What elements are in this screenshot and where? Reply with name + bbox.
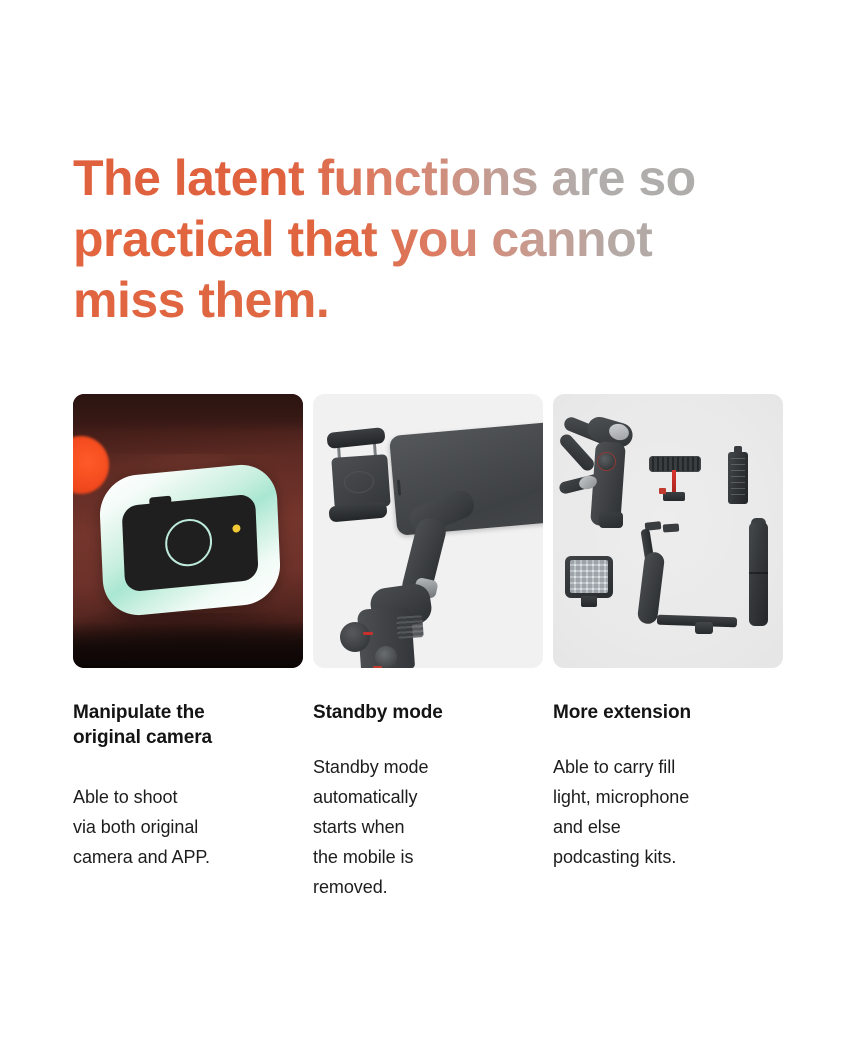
phone-screen-bottom-shadow xyxy=(73,622,303,668)
headline-line-3: miss them. xyxy=(73,270,793,331)
accessory-kit-illustration xyxy=(553,394,783,668)
kit-bracket-shoe-right xyxy=(663,523,680,532)
kit-extension-rod xyxy=(749,522,768,626)
kit-bracket-mount-screw xyxy=(695,622,713,634)
feature-image-accessory-kit xyxy=(553,394,783,668)
kit-gimbal-dial xyxy=(597,452,616,471)
gimbal-illustration xyxy=(313,394,543,668)
feature-body-2: Standby mode automatically starts when t… xyxy=(313,752,543,902)
camera-icon-glyph xyxy=(122,494,259,593)
feature-image-row xyxy=(73,394,783,668)
feature-body-1: Able to shoot via both original camera a… xyxy=(73,782,303,872)
handle-grip-texture xyxy=(396,615,423,639)
kit-microphone-red-accent xyxy=(659,488,666,494)
headline-line-2: practical that you cannot xyxy=(73,209,793,270)
feature-image-camera-app xyxy=(73,394,303,668)
phone-side-button xyxy=(397,479,401,495)
handle-joystick xyxy=(375,646,397,668)
feature-caption-3: More extension Able to carry fill light,… xyxy=(553,700,783,902)
headline-line-1: The latent functions are so xyxy=(73,148,793,209)
feature-image-gimbal-standby xyxy=(313,394,543,668)
record-button-indicator xyxy=(373,666,382,668)
kit-led-light-mount xyxy=(581,596,597,607)
camera-viewfinder-bump-icon xyxy=(149,496,171,505)
feature-body-3: Able to carry fill light, microphone and… xyxy=(553,752,783,872)
product-feature-page: The latent functions are so practical th… xyxy=(0,0,856,1044)
phone-screen-top-band xyxy=(73,394,303,432)
camera-app-icon xyxy=(98,461,281,618)
kit-extension-rod-seam xyxy=(749,572,768,574)
page-headline: The latent functions are so practical th… xyxy=(73,148,793,331)
camera-lens-icon xyxy=(164,517,213,569)
feature-caption-1: Manipulate the original camera Able to s… xyxy=(73,700,303,902)
feature-title-3: More extension xyxy=(553,700,783,725)
kit-folding-tripod xyxy=(728,452,748,504)
kit-led-fill-light xyxy=(565,556,613,598)
feature-caption-row: Manipulate the original camera Able to s… xyxy=(73,700,783,902)
feature-title-2: Standby mode xyxy=(313,700,543,725)
feature-title-1: Manipulate the original camera xyxy=(73,700,303,750)
kit-microphone-mount-stem xyxy=(672,470,676,494)
led-panel-grid xyxy=(570,560,608,593)
kit-gimbal-base xyxy=(599,512,623,528)
feature-caption-2: Standby mode Standby mode automatically … xyxy=(313,700,543,902)
clamp-jaw-top xyxy=(326,427,385,449)
handle-zoom-dial xyxy=(340,622,370,652)
dial-red-indicator xyxy=(363,632,373,635)
kit-microphone-cold-shoe xyxy=(663,492,685,501)
camera-flash-dot-icon xyxy=(232,524,240,533)
